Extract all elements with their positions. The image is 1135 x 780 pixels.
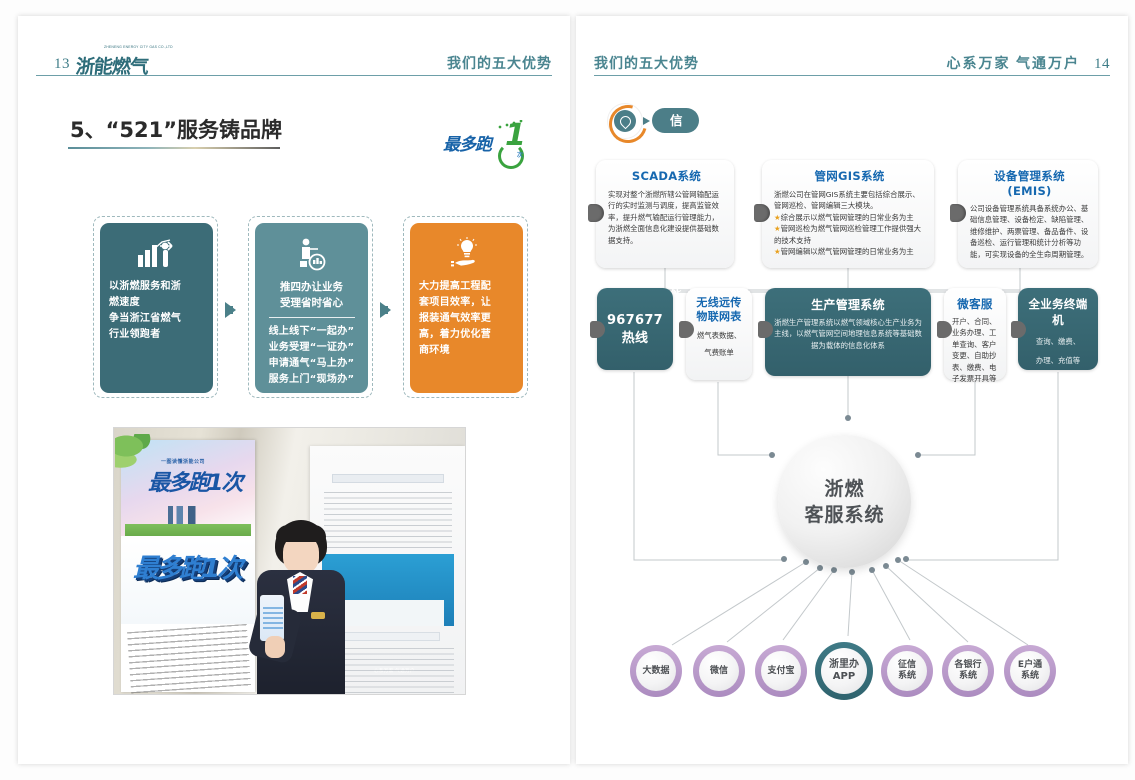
banner-headline-large: 最多跑1次 [133,548,240,585]
channel-wechat[interactable]: 微信 [693,645,745,697]
card-gis-bullet-2-text: 管网巡检为燃气管网巡检管理工作提供强大的技术支持 [774,224,921,244]
card-emis-title: 设备管理系统 (EMIS) [970,168,1089,198]
strategy-box-3-line-5: 商环境 [419,343,514,359]
strategy-box-2-line-1: 线上线下“一起办” [264,324,359,340]
card-iot-meter[interactable]: 无线远传 物联网表 燃气表数据、 气费账单 [686,288,752,380]
card-production[interactable]: 生产管理系统 浙燃生产管理系统以燃气领域核心生产业务为主线，以燃气管网空间地理信… [765,288,931,376]
board-title-bar [332,474,444,483]
fingerprint-touch-icon [608,104,642,138]
card-knob-icon [590,321,605,338]
card-hotline-number: 967677 [607,312,663,330]
section-badge-label: 信息化提升服务能力 [652,108,699,133]
channel-alipay[interactable]: 支付宝 [755,645,807,697]
card-knob-icon [1011,321,1026,338]
smartphone-icon [259,594,285,642]
right-head-rule [594,75,1110,77]
strategy-diagram: 以浙燃服务和浙 燃速度 争当浙江省燃气 行业领跑者 [93,216,528,398]
channel-credit[interactable]: 征信 系统 [881,645,933,697]
card-iot-meter-title-2: 物联网表 [694,310,744,324]
run-logo-cn: 最多跑 [443,130,491,155]
hub-customer-service-system[interactable]: 浙燃 客服系统 [778,435,911,568]
channel-bigdata-inner: 大数据 [636,651,676,691]
card-emis[interactable]: 设备管理系统 (EMIS) 公司设备管理系统具备系统办公、基础信息管理、设备检定… [958,160,1098,268]
channel-alipay-inner: 支付宝 [761,651,801,691]
card-production-title: 生产管理系统 [773,296,923,313]
strategy-box-1-line-1: 以浙燃服务和浙 [109,279,204,295]
card-hotline[interactable]: 967677 热线 [597,288,673,370]
card-production-desc: 浙燃生产管理系统以燃气领域核心生产业务为主线，以燃气管网空间地理信息系统等基础数… [773,317,923,351]
strategy-box-3: 大力提高工程配 套项目效率，让 报装通气效率更 高，着力优化营 商环境 [410,223,523,393]
photo-rollup-banner: 一图读懂浙能公司 最多跑1次 最多跑1次 [121,440,255,692]
banner-body-text [127,624,251,694]
channel-credit-label-1: 征信 [898,660,916,671]
strategy-box-2-heading-1: 推四办让业务 [264,279,359,295]
channel-wechat-label: 微信 [710,666,728,677]
channel-banks-inner: 各银行 系统 [948,651,988,691]
strategy-box-3-line-4: 高，着力优化营 [419,327,514,343]
card-knob-icon [937,321,952,338]
card-scada[interactable]: SCADA系统 实现对整个浙燃所辖公管网输配运行的实时监测与调度，提高监管效率，… [596,160,734,268]
card-iot-meter-desc-1: 燃气表数据、 [694,330,744,341]
right-folio: 14 [1094,56,1110,73]
strategy-box-2-frame: 推四办让业务 受理省时省心 线上线下“一起办” 业务受理“一证办” 申请通气“马… [248,216,373,398]
person-hand [265,636,285,658]
card-gis-bullet-3: ★管网编辑以燃气管网管理的日常业务为主 [774,246,925,257]
card-wechat-service-title: 微客服 [952,296,998,312]
person-name-badge [311,612,325,619]
channel-bigdata[interactable]: 大数据 [630,645,682,697]
card-gis-bullet-3-text: 管网编辑以燃气管网管理的日常业务为主 [781,247,914,256]
card-hotline-label: 热线 [607,330,663,348]
lightbulb-hand-icon [419,237,514,273]
channel-zhelib-app[interactable]: 浙里办 APP [815,642,873,700]
banner-headline: 最多跑1次 [148,465,241,497]
strategy-box-1-line-2: 燃速度 [109,295,204,311]
channel-ehutong-label-2: 系统 [1021,671,1039,682]
card-scada-body: 实现对整个浙燃所辖公管网输配运行的实时监测与调度，提高监管效率，提升燃气输配运行… [608,189,725,246]
growth-chart-person-icon [109,237,204,273]
card-iot-meter-title-1: 无线远传 [694,296,744,310]
strategy-box-2-divider [269,317,355,318]
card-terminal[interactable]: 全业务终端机 查询、缴费、 办理、充值等 [1018,288,1098,370]
channel-credit-label-2: 系统 [898,671,916,682]
channel-alipay-label: 支付宝 [767,666,794,677]
page-title: 5、“521”服务铸品牌 [70,114,282,144]
strategy-box-3-line-1: 大力提高工程配 [419,279,514,295]
channel-zhelib-app-inner: 浙里办 APP [821,648,867,694]
channel-bigdata-label: 大数据 [642,666,669,677]
banner-subline: 一图读懂浙能公司 [161,458,205,465]
channel-credit-inner: 征信 系统 [887,651,927,691]
card-emis-body: 公司设备管理系统具备系统办公、基础信息管理、设备检定、缺陷管理、维修维护、两票管… [970,203,1089,260]
arrow-2-icon [380,302,391,318]
right-running-head: 我们的五大优势 心系万家 气通万户 14 [594,42,1110,76]
strategy-box-3-line-3: 报装通气效率更 [419,311,514,327]
strategy-box-2-line-3: 申请通气“马上办” [264,356,359,372]
left-head-title: 我们的五大优势 [447,53,552,73]
card-terminal-desc-1: 查询、缴费、 [1026,336,1090,347]
card-knob-icon [758,321,773,338]
company-logo: ZHENENG ENERGY CITY GAS CO.,LTD 浙能燃气 [76,45,162,75]
card-iot-meter-desc-2: 气费账单 [694,347,744,358]
right-head-slogan: 心系万家 气通万户 [947,53,1081,73]
board-title-bar-2 [344,632,440,641]
channel-ehutong-inner: E户通 系统 [1010,651,1050,691]
channel-ehutong-label-1: E户通 [1018,660,1042,671]
card-wechat-service-desc: 开户、合同、业务办理、工单查询、客户变更、自助抄表、缴费、电子发票开具等 [952,316,998,384]
person-fringe [276,525,326,542]
strategy-box-1-line-4: 行业领跑者 [109,327,204,343]
strategy-box-2: 推四办让业务 受理省时省心 线上线下“一起办” 业务受理“一证办” 申请通气“马… [255,223,368,393]
right-head-title: 我们的五大优势 [594,53,699,73]
card-knob-icon [679,321,694,338]
service-counter-icon [264,237,359,273]
hub-line-2: 客服系统 [804,502,884,528]
channel-ehutong[interactable]: E户通 系统 [1004,645,1056,697]
card-gis[interactable]: 管网GIS系统 浙燃公司在管网GIS系统主要包括综合展示、管网巡检、管网编辑三大… [762,160,934,268]
banner-city-illustration [125,506,251,536]
card-knob-icon [588,204,604,222]
card-scada-title: SCADA系统 [608,168,725,184]
channel-banks-label-1: 各银行 [954,660,981,671]
page-title-underline [68,147,280,149]
strategy-box-3-frame: 大力提高工程配 套项目效率，让 报装通气效率更 高，着力优化营 商环境 [403,216,528,398]
photo-person [249,520,353,695]
card-gis-bullet-2: ★管网巡检为燃气管网巡检管理工作提供强大的技术支持 [774,223,925,246]
card-wechat-service[interactable]: 微客服 开户、合同、业务办理、工单查询、客户变更、自助抄表、缴费、电子发票开具等 [944,288,1006,380]
card-knob-icon [754,204,770,222]
card-gis-intro: 浙燃公司在管网GIS系统主要包括综合展示、管网巡检、管网编辑三大模块。 [774,189,925,212]
channel-zhelib-app-label-2: APP [833,671,855,683]
run-logo-en: 次 [517,150,523,159]
left-running-head: 13 ZHENENG ENERGY CITY GAS CO.,LTD 浙能燃气 … [36,42,552,76]
strategy-box-1-line-3: 争当浙江省燃气 [109,311,204,327]
logo-english-text: ZHENENG ENERGY CITY GAS CO.,LTD [104,45,173,49]
card-terminal-title: 全业务终端机 [1026,296,1090,328]
channel-wechat-inner: 微信 [699,651,739,691]
fingerprint-inner [614,110,636,132]
person-scarf [293,576,307,594]
star-icon: ★ [774,224,781,233]
fingerprint-grip-shape [617,113,633,129]
channel-zhelib-app-label-1: 浙里办 [829,659,859,671]
card-gis-title: 管网GIS系统 [774,168,925,184]
strategy-box-2-line-4: 服务上门“现场办” [264,372,359,388]
card-gis-bullet-1: ★综合展示以燃气管网管理的日常业务为主 [774,212,925,223]
left-folio: 13 [54,56,70,73]
run-once-logo: 最多跑 1 次 [443,116,561,168]
strategy-box-2-line-2: 业务受理“一证办” [264,340,359,356]
arrow-1-icon [225,302,236,318]
card-knob-icon [950,204,966,222]
channel-banks[interactable]: 各银行 系统 [942,645,994,697]
left-head-rule [36,75,552,77]
hub-line-1: 浙燃 [824,476,864,502]
star-icon: ★ [774,247,781,256]
card-gis-body: 浙燃公司在管网GIS系统主要包括综合展示、管网巡检、管网编辑三大模块。 ★综合展… [774,189,925,257]
card-terminal-desc-2: 办理、充值等 [1026,355,1090,366]
strategy-box-3-line-2: 套项目效率，让 [419,295,514,311]
event-photo: 心系万家 气通万户 一图读懂浙能公司 最多跑1次 最多跑1次 [113,427,466,695]
slide-canvas: 13 ZHENENG ENERGY CITY GAS CO.,LTD 浙能燃气 … [0,0,1135,780]
strategy-box-1-frame: 以浙燃服务和浙 燃速度 争当浙江省燃气 行业领跑者 [93,216,218,398]
channel-banks-label-2: 系统 [959,671,977,682]
card-gis-bullet-1-text: 综合展示以燃气管网管理的日常业务为主 [781,213,914,222]
star-icon: ★ [774,213,781,222]
strategy-box-2-heading-2: 受理省时省心 [264,295,359,311]
strategy-box-1: 以浙燃服务和浙 燃速度 争当浙江省燃气 行业领跑者 [100,223,213,393]
